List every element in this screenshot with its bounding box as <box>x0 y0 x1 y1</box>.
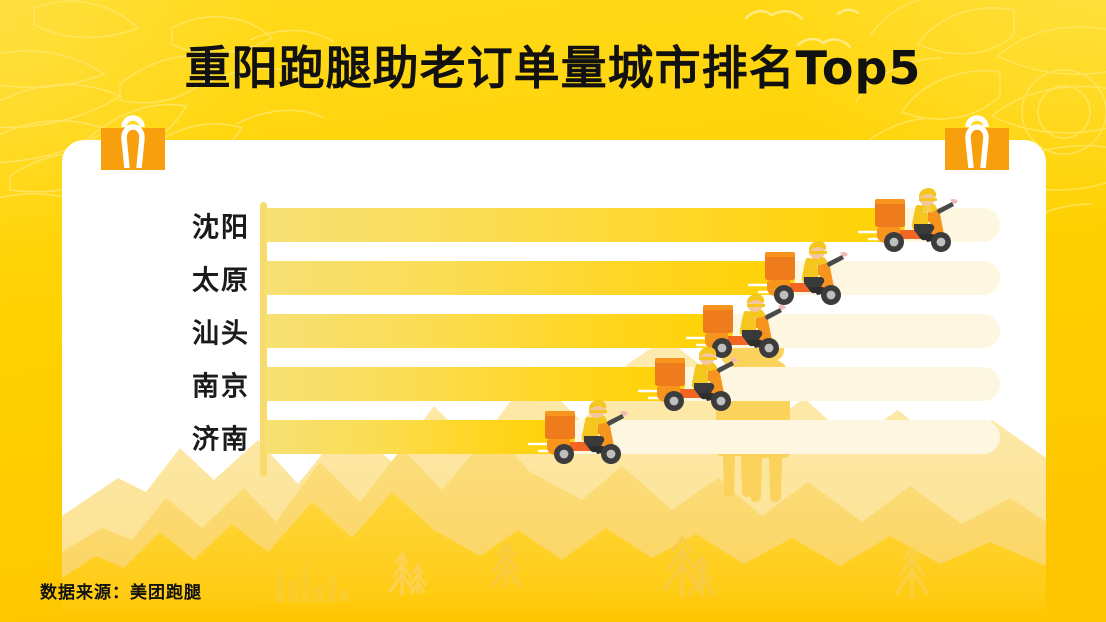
bar-track <box>265 261 1000 295</box>
chart-row: 汕头 <box>62 308 1046 354</box>
bar-label: 济南 <box>102 418 250 457</box>
bar-label: 南京 <box>102 365 250 404</box>
bar-chart: 沈阳 <box>62 140 1046 500</box>
delivery-scooter-icon <box>540 392 634 466</box>
bar-label: 太原 <box>102 259 250 298</box>
chart-row: 沈阳 <box>62 202 1046 248</box>
delivery-scooter-icon <box>870 180 964 254</box>
infographic-canvas: 重阳跑腿助老订单量城市排名Top5 <box>0 0 1106 622</box>
page-title: 重阳跑腿助老订单量城市排名Top5 <box>0 42 1106 95</box>
bar-track <box>265 314 1000 348</box>
data-source-label: 数据来源：美团跑腿 <box>40 578 202 603</box>
delivery-scooter-icon <box>650 339 744 413</box>
chart-row: 太原 <box>62 255 1046 301</box>
bar-label: 汕头 <box>102 312 250 351</box>
chart-row: 济南 <box>62 414 1046 460</box>
binder-clip-left <box>97 108 169 170</box>
bar-label: 沈阳 <box>102 206 250 245</box>
bar-fill <box>265 420 575 454</box>
binder-clip-right <box>941 108 1013 170</box>
